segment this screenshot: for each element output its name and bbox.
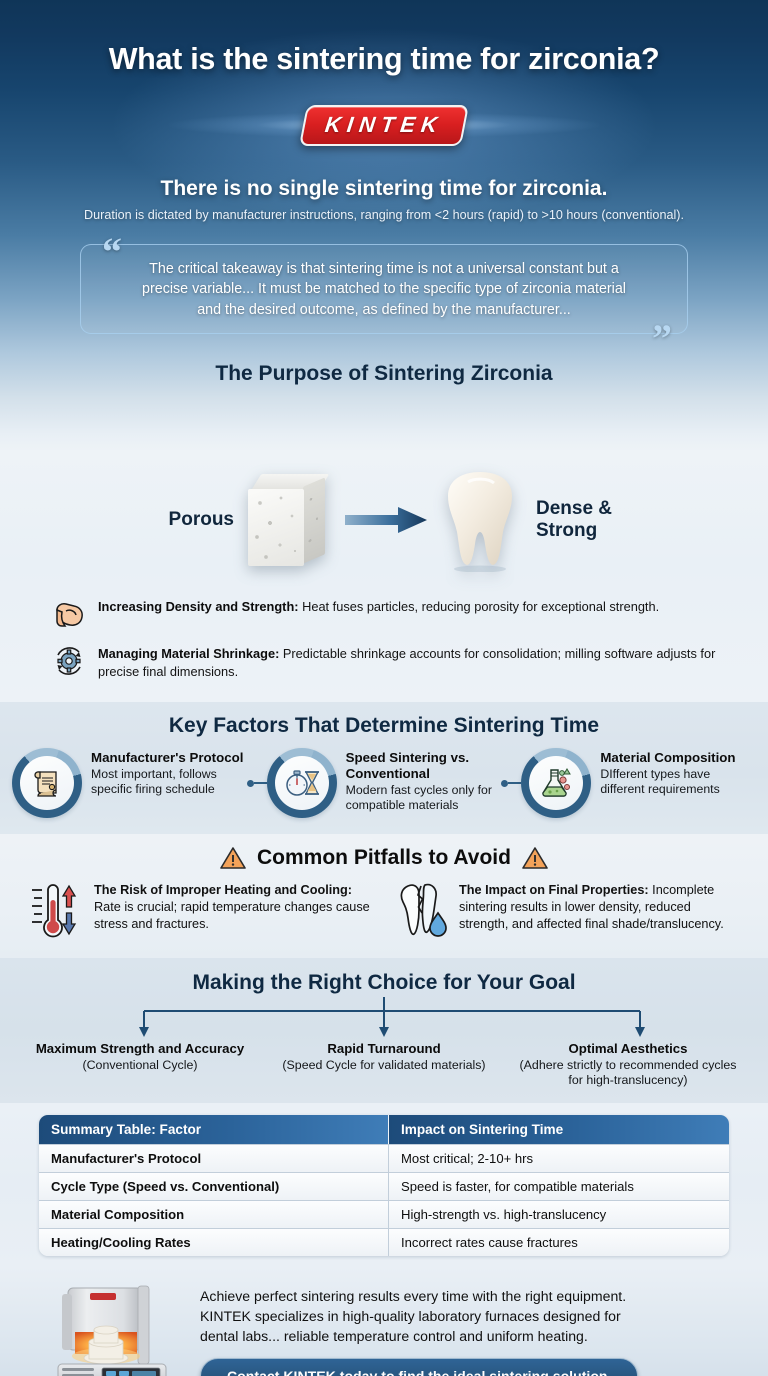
factor-desc: Most important, follows specific firing … [91,767,247,798]
choice-options-row: Maximum Strength and Accuracy (Conventio… [0,1041,768,1089]
porous-zirconia-block-icon [248,474,332,566]
kintek-logo-text: KINTEK [324,112,445,138]
hero-subtitle: There is no single sintering time for zi… [0,177,768,201]
choice-heading: Making the Right Choice for Your Goal [0,971,768,995]
kintek-logo-badge: KINTEK [299,105,469,146]
factor-desc: DIfferent types have different requireme… [600,767,756,798]
contact-kintek-button[interactable]: Contact KINTEK today to find the ideal s… [200,1358,638,1376]
key-factors-section: Key Factors That Determine Sintering Tim… [0,702,768,834]
bullet-title: Increasing Density and Strength: [98,599,299,614]
table-header-impact: Impact on Sintering Time [389,1115,729,1144]
factor-title: Manufacturer's Protocol [91,750,247,766]
bullet-text: Managing Material Shrinkage: Predictable… [98,643,724,680]
pitfall-heating-cooling: The Risk of Improper Heating and Cooling… [29,880,374,942]
table-cell-factor: Cycle Type (Speed vs. Conventional) [39,1172,389,1200]
bullet-body: Heat fuses particles, reducing porosity … [299,599,660,614]
quote-line-1: The critical takeaway is that sintering … [115,259,653,279]
table-cell-factor: Heating/Cooling Rates [39,1228,389,1256]
cta-line-2: KINTEK specializes in high-quality labor… [200,1306,720,1326]
choice-title: Rapid Turnaround [268,1041,500,1058]
quote-close-icon: ” [647,319,677,359]
purpose-section: Porous [0,452,768,702]
pitfall-title: The Impact on Final Properties: [459,883,649,897]
pitfall-final-properties: The Impact on Final Properties: Incomple… [394,880,739,942]
transformation-diagram: Porous [0,452,768,584]
table-cell-impact: Incorrect rates cause fractures [389,1228,729,1256]
choice-option-rapid: Rapid Turnaround (Speed Cycle for valida… [262,1041,506,1089]
factor-card-speed: Speed Sintering vs. Conventional Modern … [267,748,502,818]
factor-title: Material Composition [600,750,756,766]
pitfall-text: The Impact on Final Properties: Incomple… [459,880,739,933]
hero-note: Duration is dictated by manufacturer ins… [0,208,768,222]
factor-ring [267,748,337,818]
table-row: Manufacturer's Protocol Most critical; 2… [39,1144,729,1172]
key-factors-row: Manufacturer's Protocol Most important, … [0,748,768,818]
choice-option-strength: Maximum Strength and Accuracy (Conventio… [18,1041,262,1089]
table-row: Heating/Cooling Rates Incorrect rates ca… [39,1228,729,1256]
cta-line-3: dental labs... reliable temperature cont… [200,1326,720,1346]
pitfall-body: Rate is crucial; rapid temperature chang… [94,900,370,931]
pull-quote: “ ” The critical takeaway is that sinter… [80,244,688,334]
warning-triangle-icon [220,846,246,870]
cta-line-1: Achieve perfect sintering results every … [200,1286,720,1306]
factor-ring [12,748,82,818]
quote-open-icon: “ [97,232,127,272]
table-header-row: Summary Table: Factor Impact on Sinterin… [39,1115,729,1144]
flexed-biceps-icon [52,597,86,631]
scroll-document-icon [30,766,64,800]
hero-section: What is the sintering time for zirconia?… [0,0,768,452]
warning-triangle-icon [522,846,548,870]
list-item: Managing Material Shrinkage: Predictable… [0,639,768,688]
pitfall-text: The Risk of Improper Heating and Cooling… [94,880,374,933]
thermometer-arrows-icon [29,880,83,942]
cta-content: Achieve perfect sintering results every … [200,1278,768,1376]
brand-logo: KINTEK [0,99,768,151]
stopwatch-hourglass-icon [284,766,320,800]
factor-title: Speed Sintering vs. Conventional [346,750,502,781]
branch-connector-diagram [0,995,768,1041]
list-item: Increasing Density and Strength: Heat fu… [0,592,768,639]
flask-molecules-icon [539,766,573,800]
summary-table-section: Summary Table: Factor Impact on Sinterin… [0,1103,768,1268]
table-cell-impact: Speed is faster, for compatible material… [389,1172,729,1200]
gear-cycle-icon [52,644,86,678]
choice-sub: (Adhere strictly to recommended cycles f… [512,1058,744,1089]
key-factors-heading: Key Factors That Determine Sintering Tim… [0,714,768,738]
bullet-title: Managing Material Shrinkage: [98,646,279,661]
choice-sub: (Conventional Cycle) [24,1058,256,1074]
page-title: What is the sintering time for zirconia? [0,0,768,77]
choice-title: Maximum Strength and Accuracy [24,1041,256,1058]
porous-label: Porous [92,509,242,531]
factor-connector [247,748,267,818]
cracked-tooth-drop-icon [394,880,448,942]
pitfalls-section: Common Pitfalls to Avoid [0,834,768,958]
factor-ring [521,748,591,818]
quote-line-3: and the desired outcome, as defined by t… [115,300,653,320]
table-row: Material Composition High-strength vs. h… [39,1200,729,1228]
dense-tooth-icon [440,468,520,572]
quote-line-2: precise variable... It must be matched t… [115,279,653,299]
choice-sub: (Speed Cycle for validated materials) [268,1058,500,1074]
purpose-heading: The Purpose of Sintering Zirconia [0,362,768,386]
infographic-page: What is the sintering time for zirconia?… [0,0,768,1376]
table-cell-factor: Material Composition [39,1200,389,1228]
factor-card-protocol: Manufacturer's Protocol Most important, … [12,748,247,818]
choice-section: Making the Right Choice for Your Goal Ma… [0,958,768,1103]
process-arrow-icon [338,504,434,536]
table-cell-impact: Most critical; 2-10+ hrs [389,1144,729,1172]
factor-card-material: Material Composition DIfferent types hav… [521,748,756,818]
table-row: Cycle Type (Speed vs. Conventional) Spee… [39,1172,729,1200]
pitfall-title: The Risk of Improper Heating and Cooling… [94,883,352,897]
choice-option-aesthetics: Optimal Aesthetics (Adhere strictly to r… [506,1041,750,1089]
factor-desc: Modern fast cycles only for compatible m… [346,783,502,814]
choice-title: Optimal Aesthetics [512,1041,744,1058]
summary-table: Summary Table: Factor Impact on Sinterin… [39,1115,729,1256]
table-header-factor: Summary Table: Factor [39,1115,389,1144]
table-cell-factor: Manufacturer's Protocol [39,1144,389,1172]
dense-strong-label: Dense & Strong [526,498,676,542]
pitfalls-heading: Common Pitfalls to Avoid [257,846,511,870]
dental-sintering-furnace-photo [42,1280,192,1376]
factor-connector [501,748,521,818]
table-cell-impact: High-strength vs. high-translucency [389,1200,729,1228]
purpose-bullets: Increasing Density and Strength: Heat fu… [0,584,768,688]
pitfalls-row: The Risk of Improper Heating and Cooling… [0,880,768,942]
bullet-text: Increasing Density and Strength: Heat fu… [98,596,659,616]
pitfalls-heading-row: Common Pitfalls to Avoid [0,846,768,870]
cta-section: Achieve perfect sintering results every … [0,1268,768,1376]
